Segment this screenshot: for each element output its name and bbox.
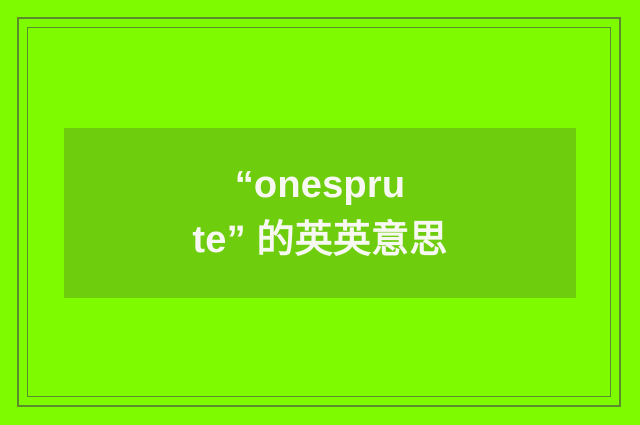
title-line-1: “onespru	[72, 158, 568, 213]
image-canvas: “onespru te” 的英英意思	[0, 0, 640, 425]
title-line-2: te” 的英英意思	[72, 213, 568, 268]
title-panel: “onespru te” 的英英意思	[64, 128, 576, 298]
title-block: “onespru te” 的英英意思	[64, 158, 576, 268]
